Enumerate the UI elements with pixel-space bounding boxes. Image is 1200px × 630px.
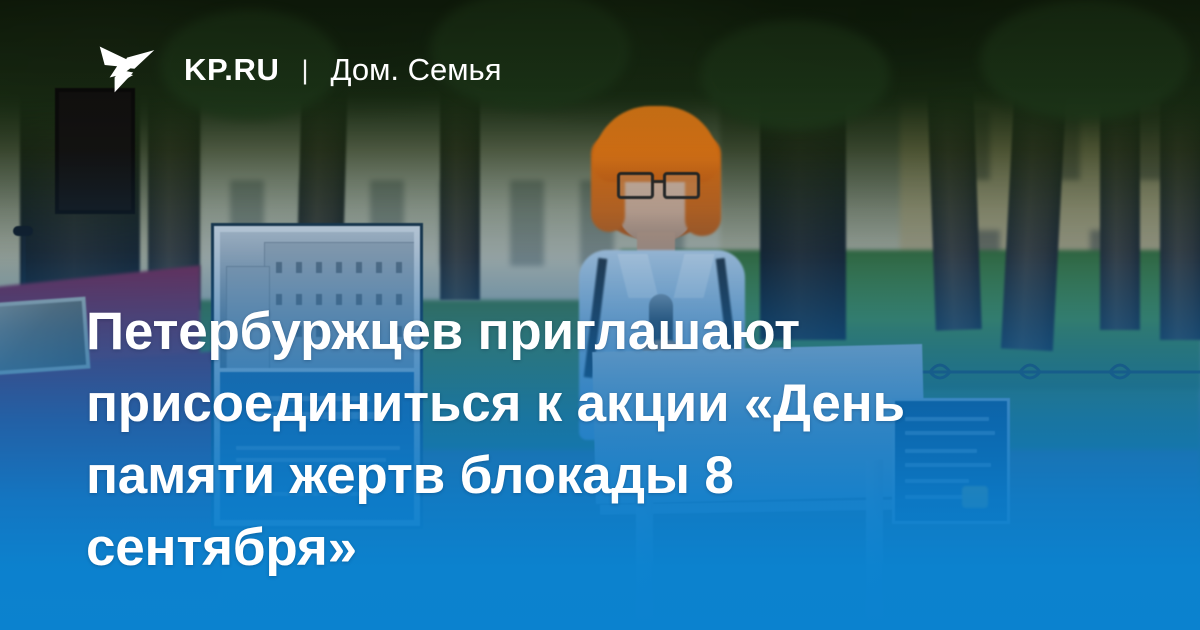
- social-share-card: KP.RU | Дом. Семья Петербуржцев приглаша…: [0, 0, 1200, 630]
- brand-bar[interactable]: KP.RU | Дом. Семья: [96, 38, 501, 102]
- brand-separator: |: [301, 55, 308, 86]
- swallow-bird-logo-icon[interactable]: [96, 39, 158, 101]
- brand-section[interactable]: Дом. Семья: [330, 52, 501, 88]
- brand-name[interactable]: KP.RU: [184, 52, 279, 88]
- headline[interactable]: Петербуржцев приглашают присоединиться к…: [86, 296, 1016, 584]
